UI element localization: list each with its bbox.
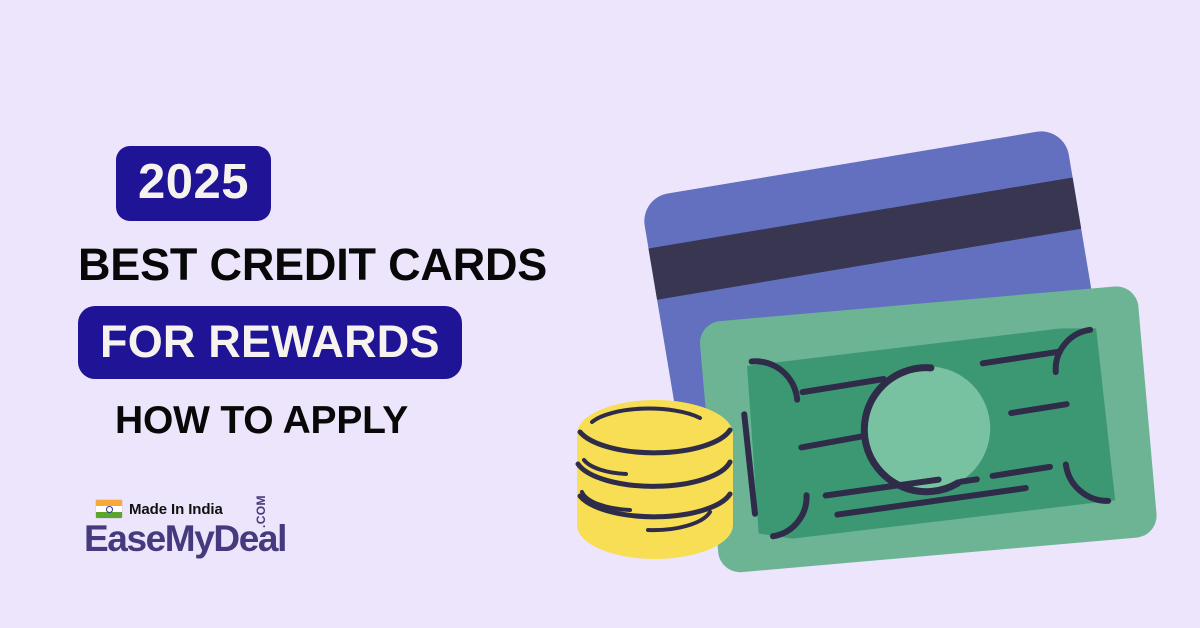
brand-wordmark: EaseMyDeal .COM — [84, 520, 294, 557]
headline-block: 2025 BEST CREDIT CARDS FOR REWARDS HOW T… — [78, 146, 548, 440]
year-badge: 2025 — [116, 146, 271, 221]
coin-stack-graphic — [577, 400, 733, 559]
headline-line-1: BEST CREDIT CARDS — [78, 242, 548, 287]
india-flag-icon — [96, 500, 122, 518]
poster-canvas: 2025 BEST CREDIT CARDS FOR REWARDS HOW T… — [0, 0, 1200, 628]
banknote-graphic — [698, 285, 1158, 574]
brand-tld-text: .COM — [255, 495, 267, 528]
rewards-highlight-badge: FOR REWARDS — [78, 306, 462, 379]
credit-card-money-illustration — [570, 100, 1190, 600]
made-in-india-label: Made In India — [129, 502, 223, 517]
brand-logo[interactable]: Made In India EaseMyDeal .COM — [84, 500, 294, 572]
headline-line-2: HOW TO APPLY — [115, 401, 548, 440]
